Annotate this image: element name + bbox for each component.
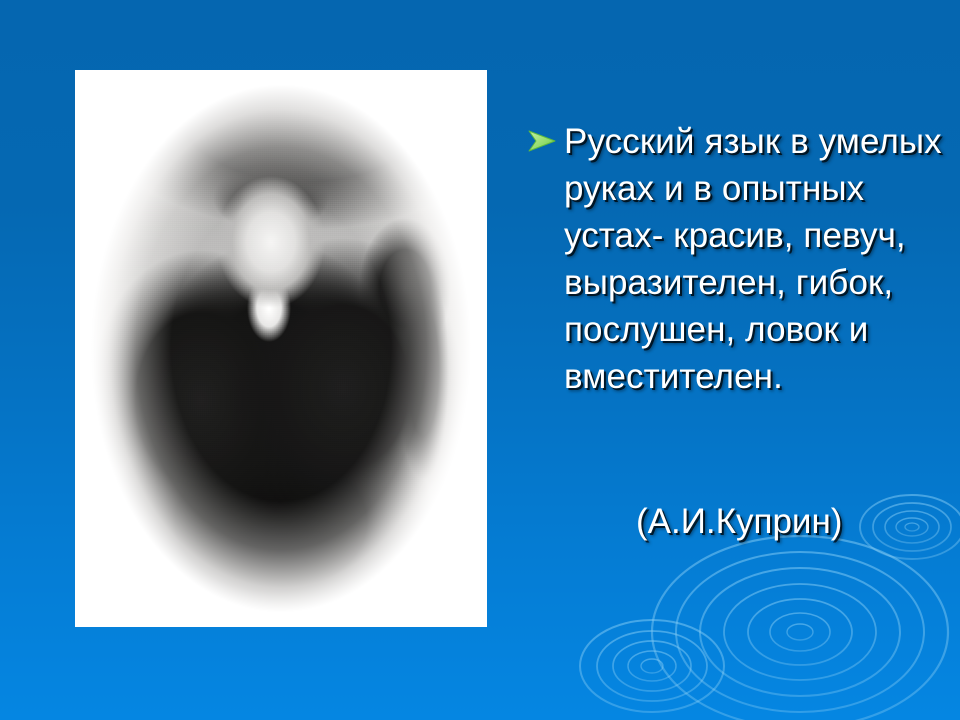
portrait-photo[interactable] (75, 70, 487, 627)
arrow-bullet-icon (528, 118, 564, 152)
bullet-list-item: Русский язык в умелых руках и в опытных … (528, 118, 946, 400)
portrait-photo-oval-vignette (75, 70, 487, 627)
quote-paragraph: Русский язык в умелых руках и в опытных … (564, 118, 946, 400)
portrait-photo-canvas (75, 70, 487, 627)
quote-text-block: Русский язык в умелых руках и в опытных … (528, 118, 946, 400)
quote-attribution: (А.И.Куприн) (528, 498, 960, 545)
ripple-medium (580, 620, 724, 712)
ripple-large (652, 536, 948, 720)
presentation-slide: Русский язык в умелых руках и в опытных … (0, 0, 960, 720)
